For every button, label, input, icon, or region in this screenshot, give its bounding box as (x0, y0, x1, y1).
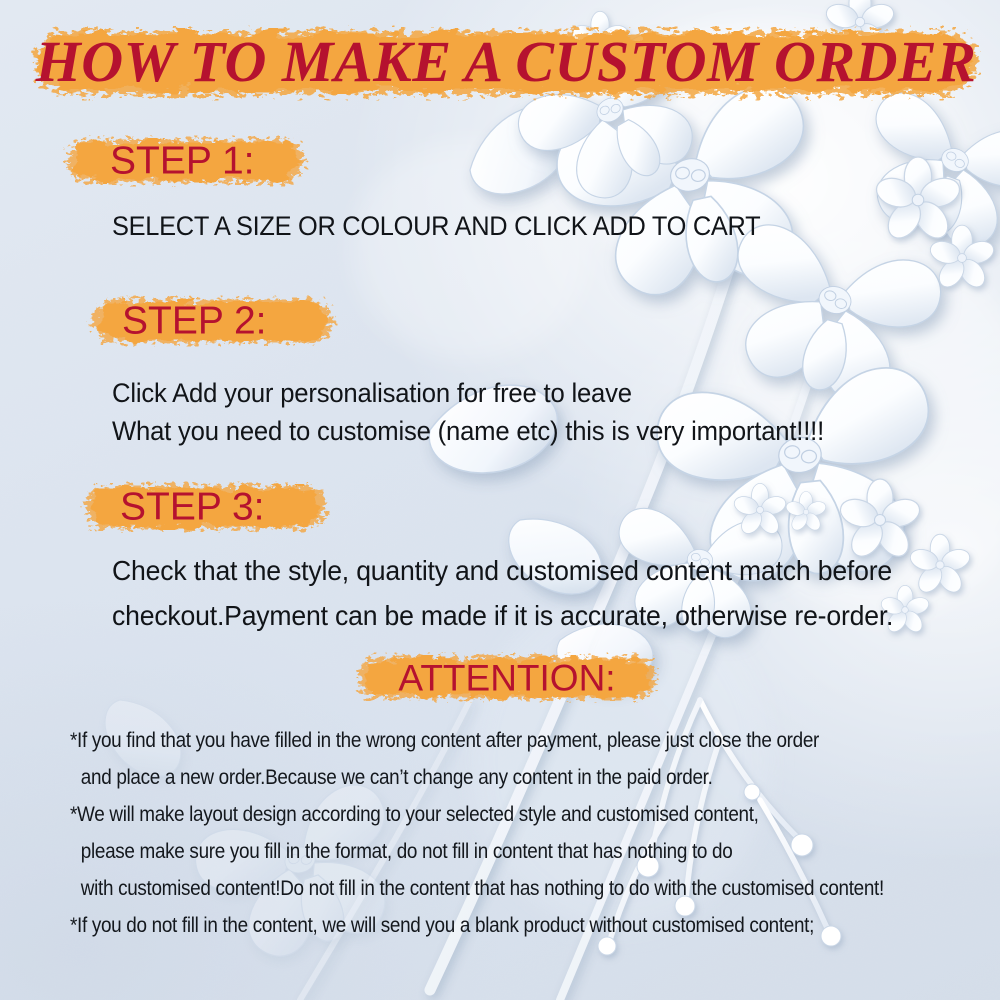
fine-print-line-1: *If you find that you have filled in the… (70, 722, 889, 759)
poster-title-banner: HOW TO MAKE A CUSTOM ORDER (30, 22, 982, 102)
step-2-body: Click Add your personalisation for free … (112, 374, 824, 450)
step-3-line-2: checkout.Payment can be made if it is ac… (112, 593, 893, 638)
step-1-body: SELECT A SIZE OR COLOUR AND CLICK ADD TO… (112, 209, 760, 243)
step-2-line-1: Click Add your personalisation for free … (112, 374, 824, 412)
step-3-label: STEP 3: (120, 488, 265, 527)
step-2-line-2: What you need to customise (name etc) th… (112, 412, 824, 450)
step-1-heading: STEP 1: (62, 132, 310, 190)
step-2-label: STEP 2: (122, 302, 267, 341)
poster-canvas: HOW TO MAKE A CUSTOM ORDER (0, 0, 1000, 1000)
fine-print-line-4: please make sure you fill in the format,… (70, 833, 889, 870)
fine-print-line-5: with customised content!Do not fill in t… (70, 870, 889, 907)
step-3-body: Check that the style, quantity and custo… (112, 548, 893, 638)
fine-print-line-3: *We will make layout design according to… (70, 796, 889, 833)
step-1-line-1: SELECT A SIZE OR COLOUR AND CLICK ADD TO… (112, 209, 760, 243)
attention-heading: ATTENTION: (352, 650, 662, 706)
page-title: HOW TO MAKE A CUSTOM ORDER (30, 33, 982, 91)
step-2-heading: STEP 2: (86, 292, 338, 350)
step-3-line-1: Check that the style, quantity and custo… (112, 548, 893, 593)
attention-fine-print: *If you find that you have filled in the… (70, 722, 980, 944)
step-1-label: STEP 1: (110, 142, 255, 181)
step-3-heading: STEP 3: (80, 478, 332, 536)
fine-print-line-2: and place a new order.Because we can’t c… (70, 759, 889, 796)
attention-label: ATTENTION: (352, 660, 662, 697)
fine-print-line-6: *If you do not fill in the content, we w… (70, 907, 889, 944)
